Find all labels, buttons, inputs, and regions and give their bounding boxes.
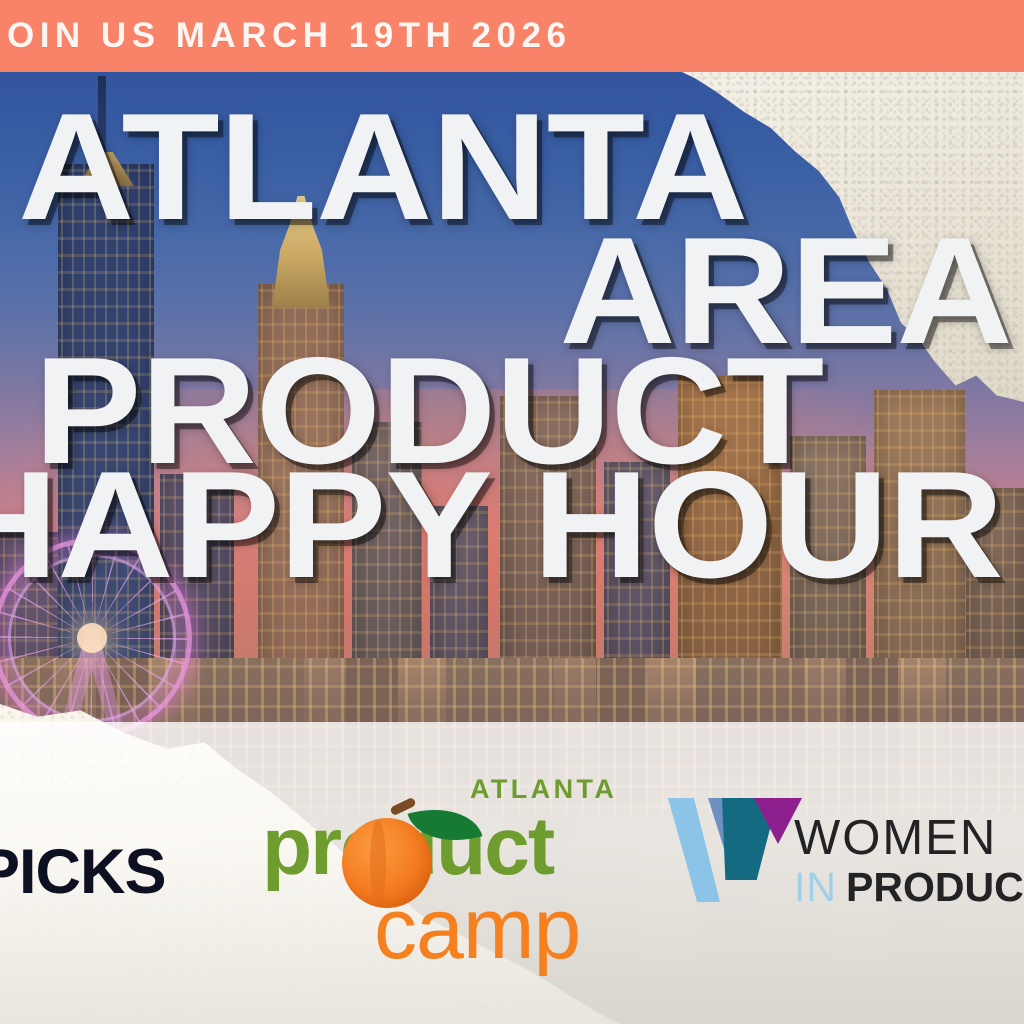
event-poster: JOIN US MARCH 19TH 2026 ATLANTA AREA PRO… [0, 0, 1024, 1024]
picks-logo: PICKS [0, 836, 166, 908]
date-banner: JOIN US MARCH 19TH 2026 [0, 0, 1024, 72]
productcamp-camp-word: camp [374, 880, 580, 979]
w-mark-light-blue-stroke [668, 798, 720, 902]
in-product-line: IN PRODUCT [794, 864, 1024, 911]
sponsor-logo-row: PICKS ATLANTA product camp WOMEN IN PROD… [0, 760, 1024, 990]
product-label: PRODUCT [846, 864, 1024, 911]
headline-line-happy-hour: HAPPY HOUR [0, 462, 1003, 590]
date-banner-text: JOIN US MARCH 19TH 2026 [0, 16, 571, 56]
ferris-wheel-hub [77, 623, 107, 653]
women-in-product-w-mark-icon [668, 798, 772, 902]
women-in-product-logo: WOMEN IN PRODUCT [668, 794, 1018, 924]
in-label: IN [794, 864, 837, 911]
women-label: WOMEN [794, 810, 997, 866]
productcamp-atlanta-logo: ATLANTA product camp [262, 774, 622, 964]
